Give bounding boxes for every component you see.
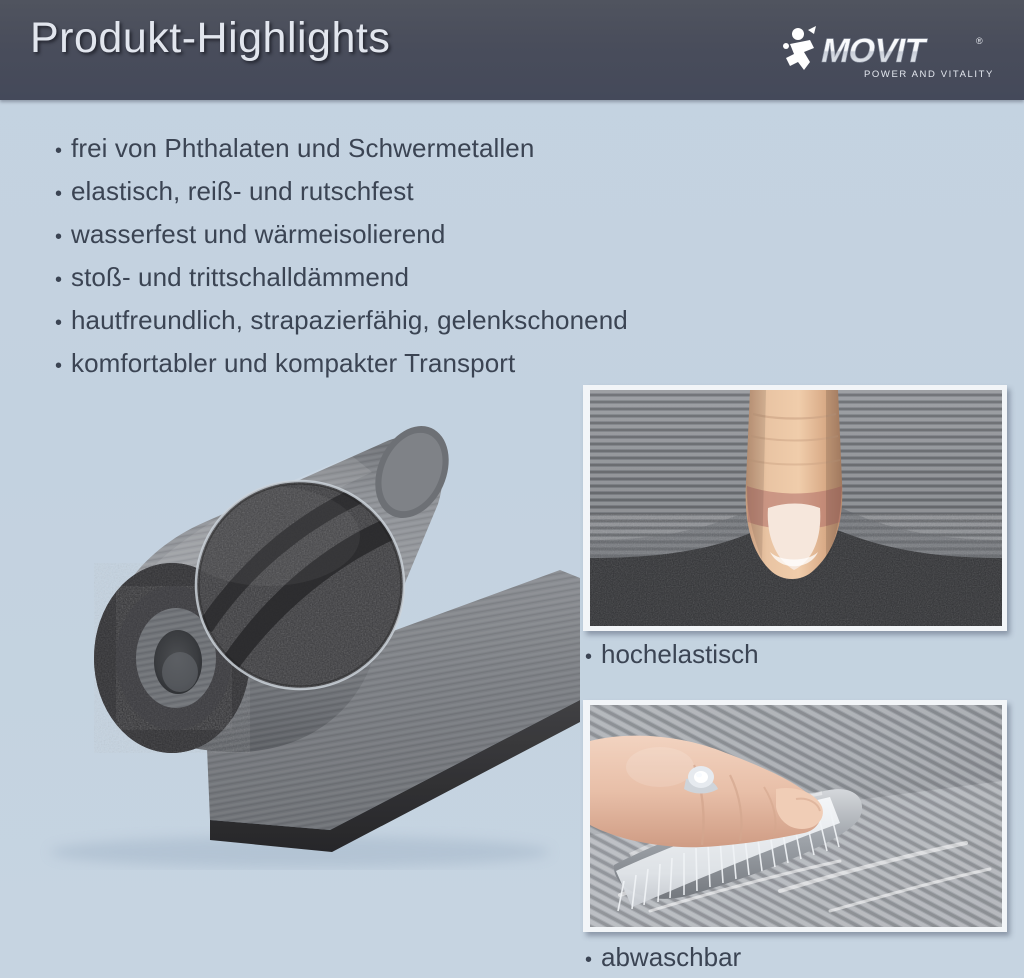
bullet-icon: • (585, 940, 601, 978)
feature-item: • hautfreundlich, strapazierfähig, gelen… (55, 300, 755, 343)
bullet-icon: • (55, 217, 71, 257)
product-highlights-page: Produkt-Highlights (0, 0, 1024, 978)
feature-label: wasserfest und wärmeisolierend (71, 214, 445, 254)
running-figure-icon (783, 26, 816, 70)
svg-text:MOVIT: MOVIT (818, 32, 930, 70)
feature-label: stoß- und trittschalldämmend (71, 257, 409, 297)
feature-item: • wasserfest und wärmeisolierend (55, 214, 755, 257)
feature-item: • komfortabler und kompakter Transport (55, 343, 755, 386)
feature-label: komfortabler und kompakter Transport (71, 343, 515, 383)
bullet-icon: • (55, 346, 71, 386)
feature-item: • stoß- und trittschalldämmend (55, 257, 755, 300)
thumb (746, 390, 843, 579)
feature-item: • elastisch, reiß- und rutschfest (55, 171, 755, 214)
bullet-icon: • (55, 303, 71, 343)
caption-label: abwaschbar (601, 940, 741, 974)
detail-photo-abwaschbar (583, 700, 1007, 932)
bullet-icon: • (55, 260, 71, 300)
svg-text:POWER AND VITALITY: POWER AND VITALITY (864, 69, 992, 80)
caption-label: hochelastisch (601, 637, 759, 671)
feature-item: • frei von Phthalaten und Schwermetallen (55, 128, 755, 171)
detail-photo-hochelastisch (583, 385, 1007, 631)
product-photo-rolled-mat (0, 400, 580, 870)
bullet-icon: • (585, 637, 601, 677)
movit-logo: MOVIT ® POWER AND VITALITY (780, 22, 992, 84)
caption-hochelastisch: • hochelastisch (585, 637, 759, 677)
bullet-icon: • (55, 131, 71, 171)
feature-label: hautfreundlich, strapazierfähig, gelenks… (71, 300, 628, 340)
feature-label: elastisch, reiß- und rutschfest (71, 171, 414, 211)
feature-list: • frei von Phthalaten und Schwermetallen… (55, 128, 755, 386)
header-bar: Produkt-Highlights (0, 0, 1024, 100)
feature-label: frei von Phthalaten und Schwermetallen (71, 128, 534, 168)
page-title: Produkt-Highlights (30, 14, 390, 63)
bullet-icon: • (55, 174, 71, 214)
caption-abwaschbar: • abwaschbar (585, 940, 741, 978)
svg-text:®: ® (976, 36, 983, 46)
